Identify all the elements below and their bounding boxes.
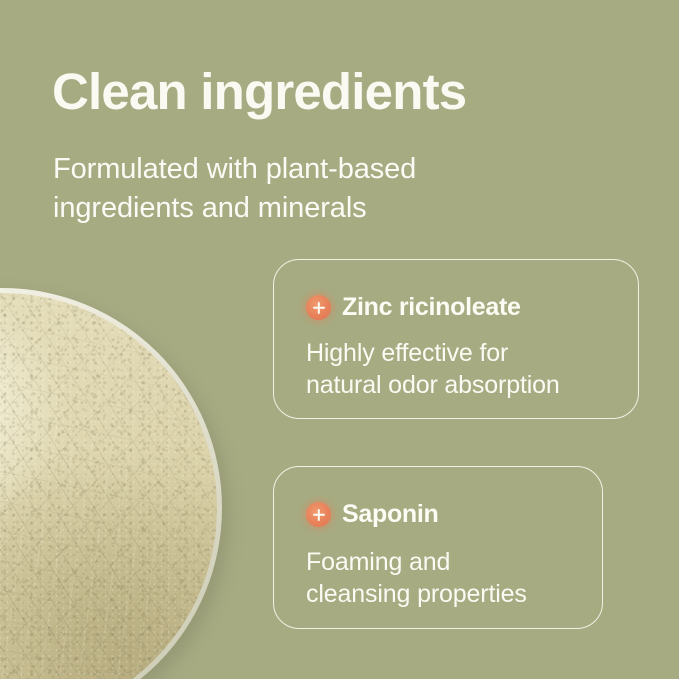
ingredient-card-saponin: Saponin Foaming and cleansing properties (273, 466, 603, 629)
card-title-row: Saponin (306, 500, 439, 529)
plus-icon (306, 502, 331, 527)
page-subtitle: Formulated with plant-based ingredients … (53, 150, 523, 227)
page-title: Clean ingredients (52, 65, 612, 118)
ingredient-name: Saponin (342, 500, 439, 529)
ingredient-description: Highly effective for natural odor absorp… (306, 338, 626, 401)
plus-icon (306, 295, 331, 320)
ingredient-name: Zinc ricinoleate (342, 293, 521, 322)
ingredient-description: Foaming and cleansing properties (306, 547, 596, 610)
card-title-row: Zinc ricinoleate (306, 293, 521, 322)
powder-grain-texture (0, 293, 217, 679)
powder-fill (0, 293, 217, 679)
product-infographic: Clean ingredients Formulated with plant-… (0, 0, 679, 679)
ingredient-card-zinc-ricinoleate: Zinc ricinoleate Highly effective for na… (273, 259, 639, 419)
